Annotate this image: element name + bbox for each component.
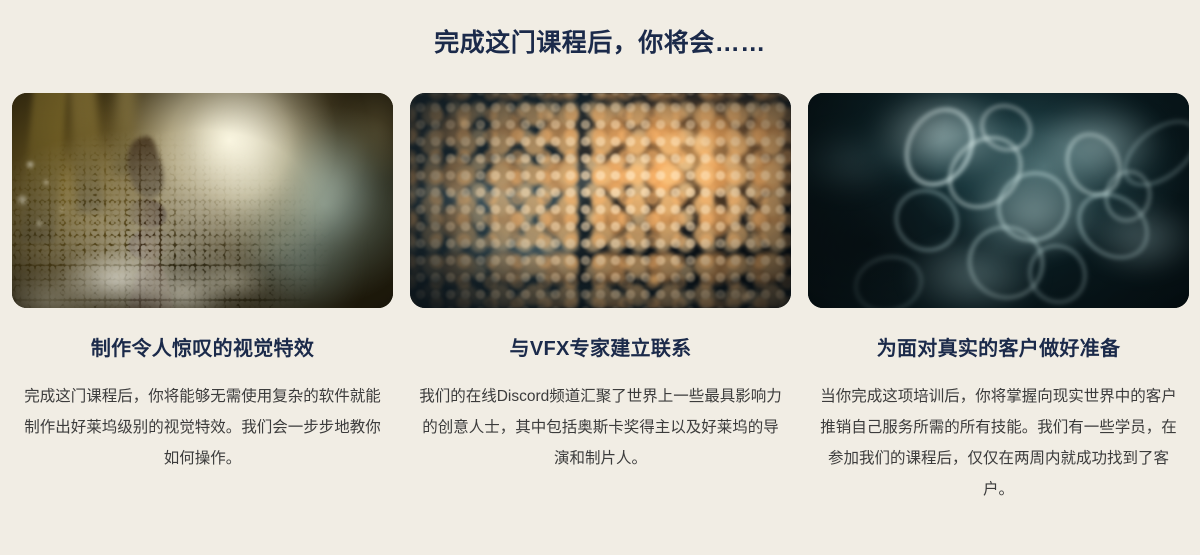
card-title: 为面对真实的客户做好准备	[808, 335, 1189, 363]
card-title: 制作令人惊叹的视觉特效	[12, 335, 393, 363]
benefit-card[interactable]: 制作令人惊叹的视觉特效 完成这门课程后，你将能够无需使用复杂的软件就能制作出好莱…	[12, 93, 393, 505]
card-body-text: 当你完成这项培训后，你将掌握向现实世界中的客户推销自己服务所需的所有技能。我们有…	[808, 381, 1189, 505]
card-body-text: 我们的在线Discord频道汇聚了世界上一些最具影响力的创意人士，其中包括奥斯卡…	[410, 381, 791, 474]
benefit-card[interactable]: 与VFX专家建立联系 我们的在线Discord频道汇聚了世界上一些最具影响力的创…	[410, 93, 791, 505]
teal-smoke-thumbnail[interactable]	[808, 93, 1189, 308]
image-vignette	[410, 93, 791, 308]
vfx-water-figure-thumbnail[interactable]	[12, 93, 393, 308]
card-body-text: 完成这门课程后，你将能够无需使用复杂的软件就能制作出好莱坞级别的视觉特效。我们会…	[12, 381, 393, 474]
benefit-card[interactable]: 为面对真实的客户做好准备 当你完成这项培训后，你将掌握向现实世界中的客户推销自己…	[808, 93, 1189, 505]
card-title: 与VFX专家建立联系	[410, 335, 791, 363]
sparks-smoke-thumbnail[interactable]	[410, 93, 791, 308]
image-vignette	[12, 93, 393, 308]
benefits-section: 完成这门课程后，你将会……	[0, 0, 1200, 555]
section-heading: 完成这门课程后，你将会……	[0, 26, 1200, 60]
image-vignette	[808, 93, 1189, 308]
benefit-card-grid: 制作令人惊叹的视觉特效 完成这门课程后，你将能够无需使用复杂的软件就能制作出好莱…	[12, 93, 1188, 505]
